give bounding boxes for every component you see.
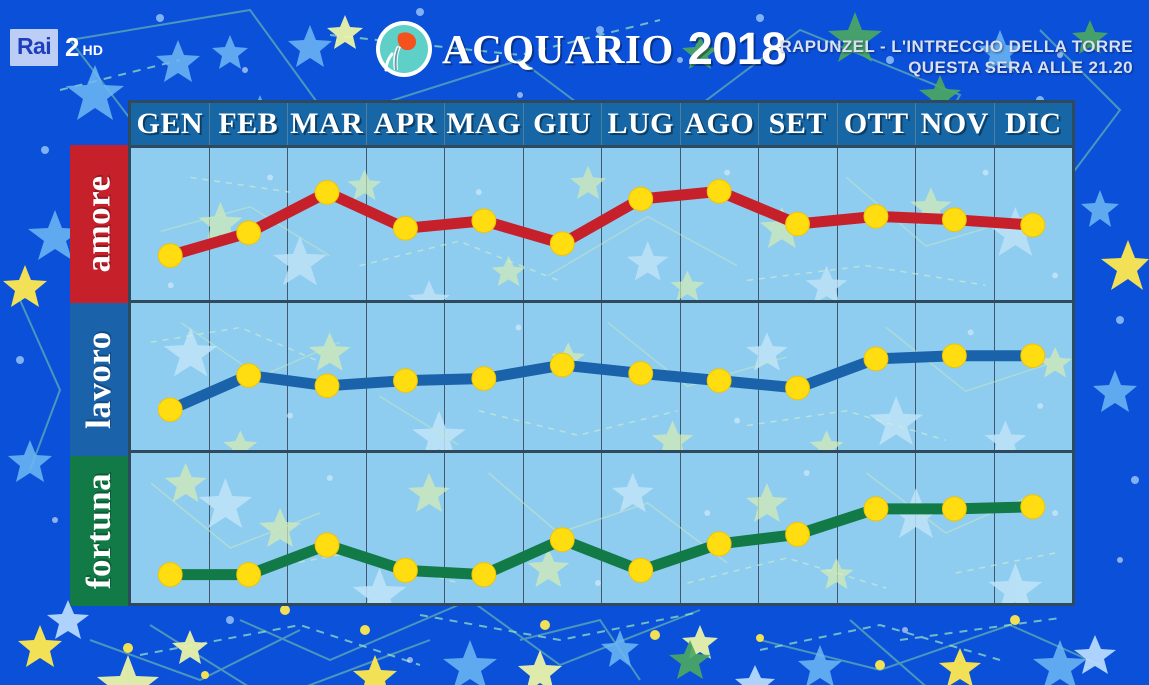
data-point-lavoro-mag[interactable] (472, 367, 496, 391)
sign-title: ACQUARIO 2018 (375, 20, 786, 78)
data-point-lavoro-giu[interactable] (550, 353, 574, 377)
data-point-fortuna-mar[interactable] (315, 533, 339, 557)
data-point-fortuna-giu[interactable] (550, 528, 574, 552)
data-point-lavoro-apr[interactable] (394, 369, 418, 393)
category-label-fortuna: fortuna (70, 456, 128, 606)
month-header-feb[interactable]: FEB (210, 103, 289, 145)
data-point-amore-feb[interactable] (237, 221, 261, 245)
month-header-row: GENFEBMARAPRMAGGIULUGAGOSETOTTNOVDIC (131, 103, 1072, 148)
data-point-lavoro-nov[interactable] (942, 344, 966, 368)
data-point-amore-mar[interactable] (315, 181, 339, 205)
category-label-fortuna-text: fortuna (79, 473, 119, 589)
series-plot-amore (131, 148, 1072, 300)
category-label-lavoro: lavoro (70, 303, 128, 456)
month-header-ott[interactable]: OTT (838, 103, 917, 145)
series-line-lavoro (170, 356, 1033, 410)
data-point-amore-gen[interactable] (158, 244, 182, 268)
month-header-lug[interactable]: LUG (602, 103, 681, 145)
channel-number: 2 (65, 34, 79, 60)
sign-name: ACQUARIO (442, 25, 674, 73)
data-point-fortuna-gen[interactable] (158, 563, 182, 587)
data-point-fortuna-ott[interactable] (864, 497, 888, 521)
data-point-amore-giu[interactable] (550, 232, 574, 256)
horoscope-chart: GENFEBMARAPRMAGGIULUGAGOSETOTTNOVDIC (128, 100, 1075, 606)
month-header-dic[interactable]: DIC (995, 103, 1073, 145)
data-point-fortuna-lug[interactable] (629, 558, 653, 582)
series-plot-fortuna (131, 453, 1072, 603)
channel-logo: Rai 2 HD (10, 28, 103, 66)
data-point-fortuna-set[interactable] (786, 522, 810, 546)
chart-panel-fortuna (131, 453, 1072, 603)
data-point-fortuna-ago[interactable] (707, 532, 731, 556)
data-point-fortuna-feb[interactable] (237, 563, 261, 587)
data-point-amore-nov[interactable] (942, 208, 966, 232)
category-label-amore-text: amore (79, 175, 119, 272)
data-point-fortuna-nov[interactable] (942, 497, 966, 521)
promo-line-1: RAPUNZEL - L'INTRECCIO DELLA TORRE (779, 36, 1133, 57)
data-point-amore-dic[interactable] (1021, 213, 1045, 237)
month-header-set[interactable]: SET (759, 103, 838, 145)
series-plot-lavoro (131, 303, 1072, 450)
rai-wordmark: Rai (17, 35, 51, 58)
chart-panel-lavoro (131, 303, 1072, 453)
month-header-mar[interactable]: MAR (288, 103, 367, 145)
month-header-nov[interactable]: NOV (916, 103, 995, 145)
month-header-giu[interactable]: GIU (524, 103, 603, 145)
data-point-amore-apr[interactable] (394, 217, 418, 241)
series-line-fortuna (170, 507, 1033, 575)
data-point-lavoro-dic[interactable] (1021, 344, 1045, 368)
sign-year: 2018 (688, 23, 786, 75)
chart-panel-amore (131, 148, 1072, 303)
category-label-amore: amore (70, 145, 128, 303)
data-point-lavoro-lug[interactable] (629, 362, 653, 386)
data-point-lavoro-ott[interactable] (864, 347, 888, 371)
data-point-fortuna-apr[interactable] (394, 558, 418, 582)
data-point-fortuna-dic[interactable] (1021, 495, 1045, 519)
data-point-amore-mag[interactable] (472, 209, 496, 233)
data-point-lavoro-ago[interactable] (707, 369, 731, 393)
data-point-lavoro-set[interactable] (786, 376, 810, 400)
series-line-amore (170, 191, 1033, 255)
month-header-apr[interactable]: APR (367, 103, 446, 145)
data-point-lavoro-gen[interactable] (158, 398, 182, 422)
data-point-lavoro-mar[interactable] (315, 374, 339, 398)
aquarius-water-bearer-icon (375, 20, 433, 78)
promo-banner: RAPUNZEL - L'INTRECCIO DELLA TORRE QUEST… (779, 36, 1133, 79)
category-label-lavoro-text: lavoro (79, 331, 119, 429)
rai-logo-box: Rai (10, 29, 58, 66)
data-point-amore-ago[interactable] (707, 180, 731, 204)
data-point-lavoro-feb[interactable] (237, 364, 261, 388)
data-point-amore-lug[interactable] (629, 187, 653, 211)
horoscope-screen: Rai 2 HD ACQUARIO 2018 RAPUNZEL - L'INTR… (0, 0, 1149, 685)
category-label-column: amore lavoro fortuna (70, 145, 128, 606)
data-point-amore-ott[interactable] (864, 205, 888, 229)
month-header-gen[interactable]: GEN (131, 103, 210, 145)
data-point-fortuna-mag[interactable] (472, 563, 496, 587)
data-point-amore-set[interactable] (786, 212, 810, 236)
promo-line-2: QUESTA SERA ALLE 21.20 (779, 57, 1133, 78)
month-header-mag[interactable]: MAG (445, 103, 524, 145)
hd-badge: HD (82, 42, 103, 58)
month-header-ago[interactable]: AGO (681, 103, 760, 145)
